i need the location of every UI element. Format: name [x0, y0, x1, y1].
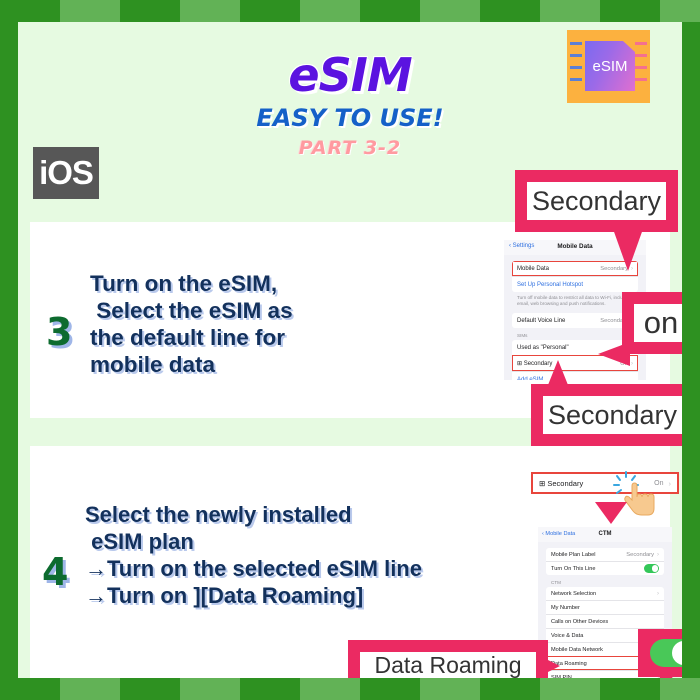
step-line: eSIM plan: [85, 528, 194, 555]
esim-logo-icon: eSIM: [567, 30, 650, 103]
row-value: Secondary: [626, 552, 654, 558]
callout-secondary-top: Secondary: [515, 170, 678, 232]
sim-contact-pin: [570, 66, 582, 69]
row-add-esim[interactable]: Add eSIM: [512, 371, 638, 380]
chevron-right-icon: ›: [657, 591, 659, 597]
row-label: Used as "Personal": [517, 345, 569, 351]
sim-contact-pin: [635, 42, 647, 45]
toggle-turn-on-this-line[interactable]: [644, 564, 659, 573]
poster-canvas: eSIM EASY TO USE! PART 3-2 iOS eSIM 3 Tu…: [18, 22, 682, 678]
callout-pointer: [613, 229, 643, 271]
callout-text: Secondary: [543, 396, 682, 434]
step-line: Turn on the eSIM,: [90, 270, 277, 297]
frame-tile: [180, 678, 240, 700]
frame-tile: [420, 678, 480, 700]
row-network-selection[interactable]: Network Selection ›: [546, 587, 664, 600]
callout-on: on: [622, 292, 682, 354]
sim-contact-pin: [635, 66, 647, 69]
frame-tile: [660, 678, 700, 700]
chevron-right-icon: ›: [631, 361, 633, 367]
callout-toggle-zoom: [638, 629, 682, 677]
row-set-up-personal-hotspot[interactable]: Set Up Personal Hotspot: [512, 276, 638, 292]
toggle-on-graphic: [650, 639, 682, 667]
row-label: Add eSIM: [517, 377, 543, 381]
callout-text: on: [634, 304, 682, 342]
row-default-voice-line[interactable]: Default Voice Line Secondary ›: [512, 313, 638, 328]
row-label: My Number: [551, 605, 580, 611]
step-line: Select the newly installed: [85, 501, 352, 528]
frame-tile: [540, 0, 600, 22]
frame-tile: [180, 0, 240, 22]
frame-tile: [540, 678, 600, 700]
row-label: Calls on Other Devices: [551, 619, 608, 625]
settings-group: Default Voice Line Secondary ›: [512, 313, 638, 328]
row-label: Mobile Data Network: [551, 647, 603, 653]
callout-pointer: [546, 659, 560, 673]
row-label: Mobile Data: [517, 266, 549, 272]
flow-arrow-down-icon: [595, 502, 627, 524]
step-number: 4: [42, 550, 68, 594]
row-turn-on-this-line[interactable]: Turn On This Line: [546, 561, 664, 575]
step-line: →Turn on ][Data Roaming]: [85, 582, 363, 609]
step-line: mobile data: [90, 351, 215, 378]
callout-text: Data Roaming: [360, 652, 536, 678]
row-label: SIM PIN: [551, 675, 572, 679]
row-label: Set Up Personal Hotspot: [517, 282, 583, 288]
sim-contact-pin: [635, 78, 647, 81]
callout-text: Secondary: [527, 182, 666, 220]
row-calls-on-other-devices[interactable]: Calls on Other Devices: [546, 614, 664, 628]
sim-chip: eSIM: [585, 41, 635, 91]
frame-tile: [60, 678, 120, 700]
nav-title: CTM: [538, 531, 672, 537]
callout-data-roaming: Data Roaming: [348, 640, 548, 678]
chevron-right-icon: ›: [657, 552, 659, 558]
frame-tile: [300, 0, 360, 22]
frame-tile: [300, 678, 360, 700]
step-line: Select the eSIM as: [90, 297, 293, 324]
platform-badge-ios: iOS: [33, 147, 99, 199]
page-subtitle: EASY TO USE!: [18, 104, 682, 132]
step-line: the default line for: [90, 324, 285, 351]
ios-navbar: ‹ Mobile Data CTM: [538, 527, 672, 542]
step-line: →Turn on the selected eSIM line: [85, 555, 422, 582]
frame-tile: [420, 0, 480, 22]
row-mobile-plan-label[interactable]: Mobile Plan Label Secondary ›: [546, 548, 664, 561]
settings-group: Mobile Plan Label Secondary › Turn On Th…: [546, 548, 664, 575]
row-label: ⊞ Secondary: [539, 479, 583, 488]
chevron-right-icon: ›: [669, 479, 672, 488]
group-header: CTM: [538, 575, 672, 587]
row-label: Network Selection: [551, 591, 596, 597]
sim-contact-pin: [635, 54, 647, 57]
row-label: Mobile Plan Label: [551, 552, 595, 558]
row-label: Default Voice Line: [517, 318, 565, 324]
row-my-number[interactable]: My Number: [546, 600, 664, 614]
row-label: Turn On This Line: [551, 566, 595, 572]
frame-tile: [60, 0, 120, 22]
sim-contact-pin: [570, 42, 582, 45]
step-number: 3: [46, 310, 72, 354]
sim-contact-pin: [570, 78, 582, 81]
esim-logo-label: eSIM: [592, 58, 627, 75]
frame-tile: [660, 0, 700, 22]
page-part-label: PART 3-2: [18, 137, 682, 159]
sim-contact-pin: [570, 54, 582, 57]
callout-secondary-bottom: Secondary: [531, 384, 682, 446]
row-label: Voice & Data: [551, 633, 583, 639]
